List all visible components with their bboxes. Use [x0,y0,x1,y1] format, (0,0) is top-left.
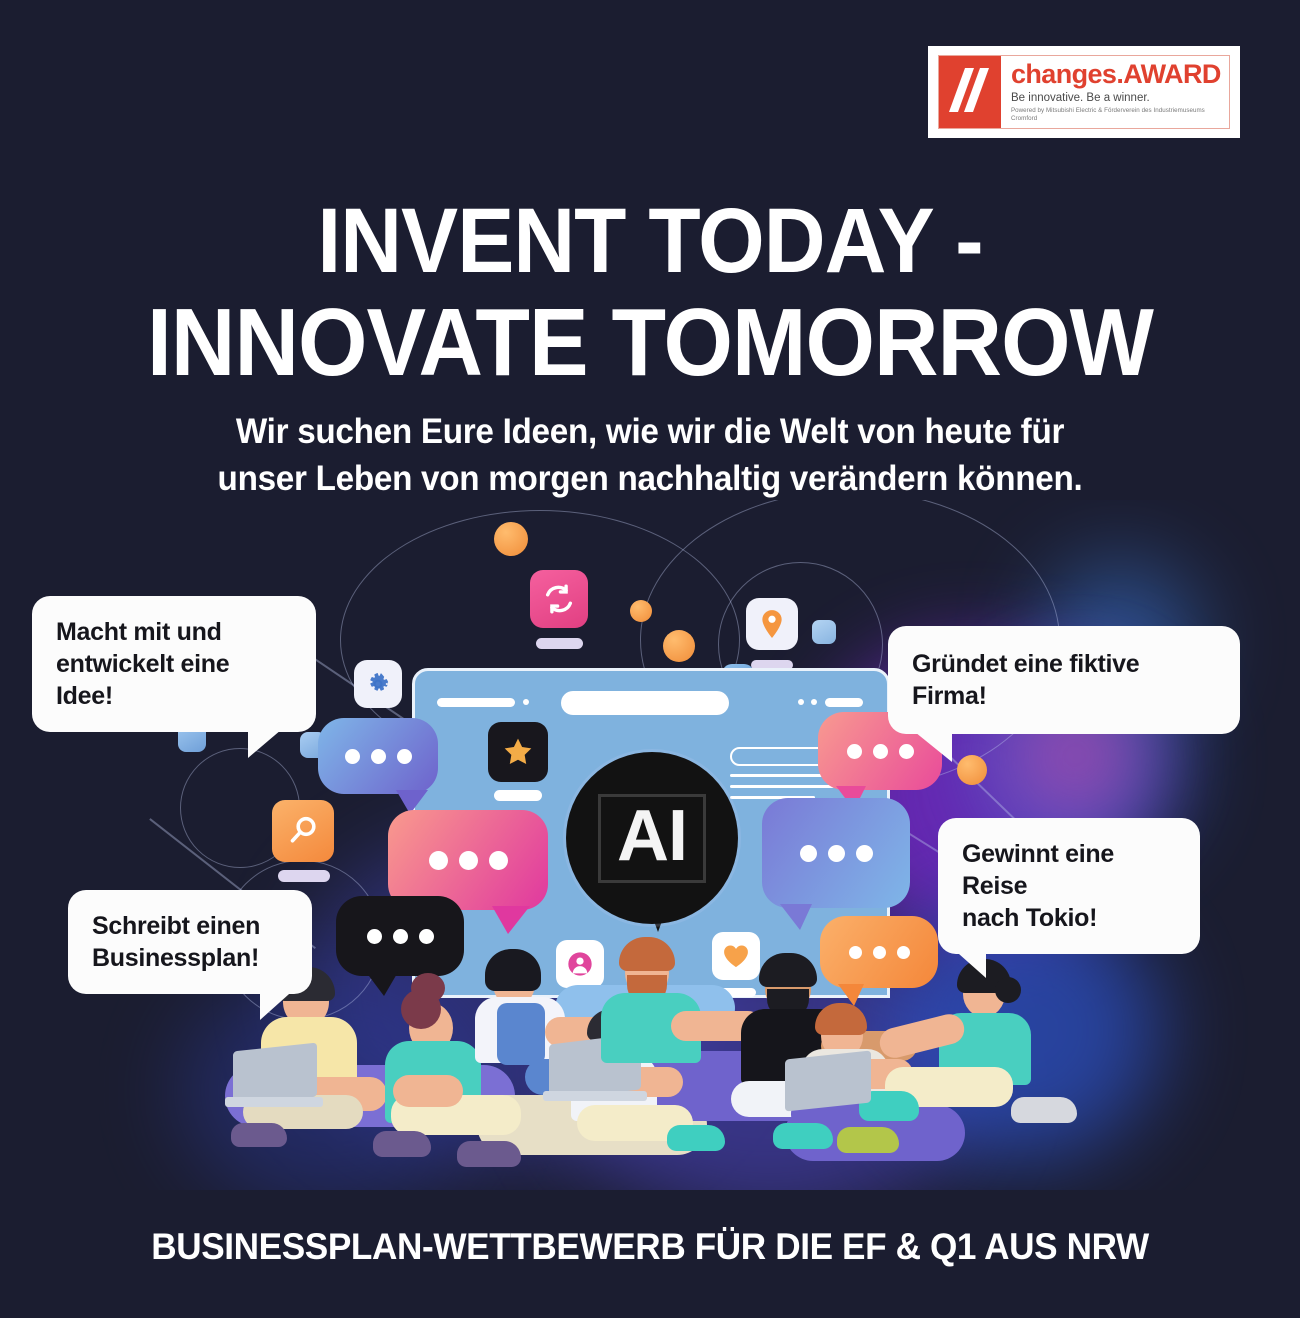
poster-canvas: changes.AWARD Be innovative. Be a winner… [0,0,1300,1318]
subheadline: Wir suchen Eure Ideen, wie wir die Welt … [33,408,1268,503]
headline-line-1: INVENT TODAY - [317,190,982,292]
laptop [785,1050,871,1111]
people-group [225,955,1095,1190]
floating-dot [630,600,652,622]
browser-toolbar [415,689,887,719]
floating-square [812,620,836,644]
callout-bubble-tokio: Gewinnt eine Reise nach Tokio! [938,818,1200,954]
ai-badge: AI [566,752,738,924]
callout-bubble-mitmachen: Macht mit und entwickelt eine Idee! [32,596,316,732]
star-icon [488,722,548,782]
headline-line-2: INNOVATE TOMORROW [46,291,1255,395]
callout-line-1: Macht mit und [56,616,292,648]
subheadline-line-1: Wir suchen Eure Ideen, wie wir die Welt … [33,408,1268,455]
browser-menu [825,698,863,707]
tile-base [536,638,583,649]
laptop-base [225,1097,323,1107]
bubble-tail [910,728,952,762]
browser-tab [437,698,515,707]
callout-line-2: nach Tokio! [962,902,1176,934]
tile-base [278,870,330,882]
bubble-tail [260,986,298,1020]
changes-award-logo: changes.AWARD Be innovative. Be a winner… [928,46,1240,138]
floating-dot [957,755,987,785]
logo-tagline: Be innovative. Be a winner. [1011,91,1229,105]
callout-line-1: Gewinnt eine Reise [962,838,1176,902]
logo-powered-by: Powered by Mitsubishi Electric & Förderv… [1011,107,1229,122]
tile-base [494,790,542,801]
search-icon [272,800,334,862]
bubble-tail [248,724,288,758]
logo-frame: changes.AWARD Be innovative. Be a winner… [938,55,1230,129]
footer-banner: BUSINESSPLAN-WETTBEWERB FÜR DIE EF & Q1 … [33,1226,1268,1268]
location-pin-icon [746,598,798,650]
floating-dot [663,630,695,662]
callout-line-1: Gründet eine fiktive Firma! [912,648,1216,712]
logo-title: changes.AWARD [1011,61,1229,88]
content-line [730,785,834,788]
browser-dot [798,699,804,705]
chat-bubble [318,718,438,794]
chat-bubble [762,798,910,908]
subheadline-line-2: unser Leben von morgen nachhaltig veränd… [33,455,1268,502]
browser-dot [811,699,817,705]
headline: INVENT TODAY - INNOVATE TOMORROW [46,192,1255,395]
floating-dot [494,522,528,556]
callout-line-2: Businessplan! [92,942,288,974]
browser-dot [523,699,529,705]
laptop-base [543,1091,647,1101]
chat-bubble [388,810,548,910]
logo-text-block: changes.AWARD Be innovative. Be a winner… [1001,56,1229,128]
callout-bubble-firma: Gründet eine fiktive Firma! [888,626,1240,734]
callout-line-2: entwickelt eine Idee! [56,648,292,712]
sync-icon [530,570,588,628]
callout-line-1: Schreibt einen [92,910,288,942]
laptop [233,1043,317,1106]
browser-address-bar [561,691,729,715]
slashes-icon [939,56,1001,128]
callout-bubble-businessplan: Schreibt einen Businessplan! [68,890,312,994]
bubble-tail [950,946,986,978]
ai-badge-label: AI [598,794,706,883]
gear-icon [354,660,402,708]
